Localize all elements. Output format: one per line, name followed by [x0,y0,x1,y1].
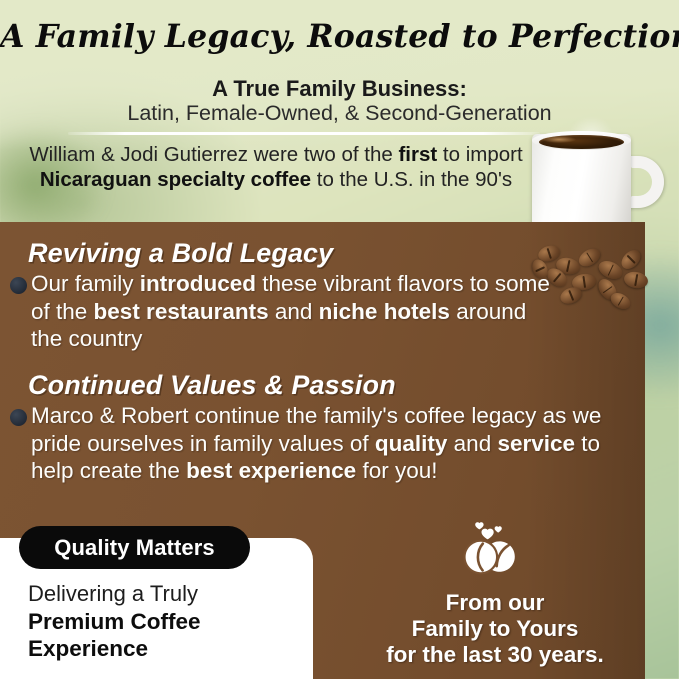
status-badge: Quality Matters [19,526,250,569]
family-line-2: Family to Yours [350,616,640,642]
family-tagline: From our Family to Yours for the last 30… [350,590,640,668]
section-body-reviving: Our family introduced these vibrant flav… [31,270,551,353]
section-body-continued: Marco & Robert continue the family's cof… [31,402,631,485]
body-bold-restaurants: best restaurants [94,299,269,324]
intro-line3-plain: to the U.S. in the 90's [311,168,512,191]
intro-bold-first: first [398,143,437,166]
badge-label: Quality Matters [54,535,214,561]
divider [68,132,540,135]
intro-paragraph: William & Jodi Gutierrez were two of the… [26,142,526,192]
bullet-point-icon [10,277,27,294]
intro-line1: William & Jodi Gutierrez were two of the [29,143,392,166]
card-line-2: Premium Coffee Experience [28,608,201,662]
intro-bold-coffee: coffee [251,168,311,191]
body-bold-introduced: introduced [140,271,256,296]
coffee-beans-hearts-icon [455,520,527,592]
body-plain: for you! [356,458,437,483]
subtitle-bold: A True Family Business: [0,76,679,102]
body-bold-hotels: niche hotels [319,299,450,324]
body-bold-service: service [497,431,575,456]
intro-bold-nicaraguan: Nicaraguan specialty [40,168,245,191]
body-plain: and [447,431,497,456]
card-line-1: Delivering a Truly [28,581,198,607]
family-line-3: for the last 30 years. [350,642,640,668]
family-line-1: From our [350,590,640,616]
intro-line2-plain: to import [437,143,522,166]
card-line-2b: Experience [28,635,201,662]
section-heading-continued: Continued Values & Passion [28,370,396,401]
page-title: A Family Legacy, Roasted to Perfection [0,18,679,55]
body-bold-experience: best experience [186,458,356,483]
card-line-2a: Premium Coffee [28,608,201,635]
body-bold-quality: quality [375,431,448,456]
bullet-point-icon [10,409,27,426]
section-heading-reviving: Reviving a Bold Legacy [28,238,333,269]
coffee-crema [542,136,576,143]
body-plain: Our family [31,271,140,296]
body-plain: and [269,299,319,324]
